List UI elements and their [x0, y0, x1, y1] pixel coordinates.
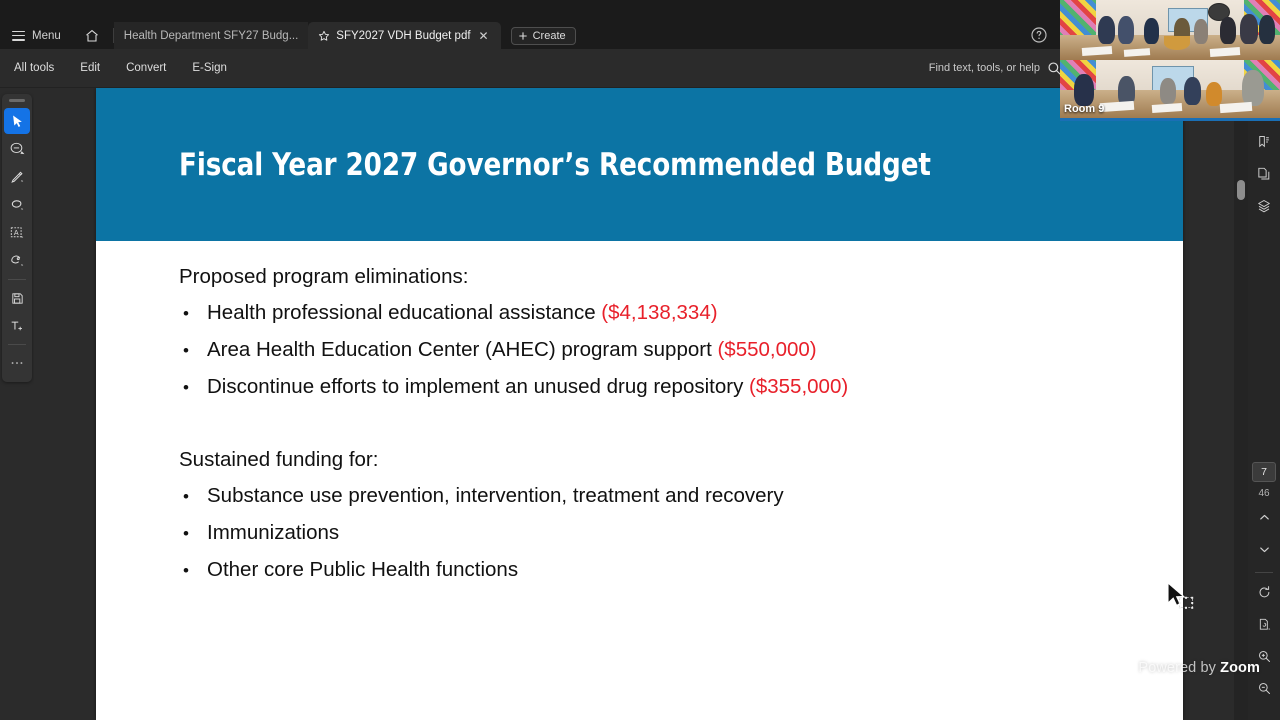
centerpiece-bowl [1164, 36, 1190, 50]
participant [1184, 77, 1201, 105]
home-button[interactable] [77, 25, 107, 47]
plus-icon [518, 31, 528, 41]
participant [1118, 16, 1134, 44]
quick-tools-panel: A [2, 94, 32, 382]
scrollbar-thumb[interactable] [1237, 180, 1245, 200]
page-navigation: 7 46 [1248, 462, 1280, 706]
participant [1220, 17, 1236, 44]
amount-value: ($550,000) [717, 338, 816, 361]
list-item: • Area Health Education Center (AHEC) pr… [179, 332, 1183, 369]
redact-tool-button[interactable] [4, 248, 30, 274]
pdf-viewport[interactable]: Fiscal Year 2027 Governor’s Recommended … [34, 88, 1248, 720]
zoom-out-icon [1257, 681, 1272, 696]
list-item: • Discontinue efforts to implement an un… [179, 369, 1183, 406]
highlighter-icon [9, 169, 25, 185]
participant [1144, 18, 1159, 44]
amount-value: ($4,138,334) [601, 301, 717, 324]
video-tile-top[interactable] [1060, 0, 1280, 60]
rotate-page-button[interactable] [1251, 578, 1277, 606]
highlight-tool-button[interactable] [4, 164, 30, 190]
zoom-in-icon [1257, 649, 1272, 664]
bullet-glyph: • [179, 370, 193, 406]
list-item-label: Area Health Education Center (AHEC) prog… [207, 338, 717, 361]
select-tool-button[interactable] [4, 108, 30, 134]
toolbar-item-all-tools[interactable]: All tools [12, 58, 56, 78]
list-item: • Other core Public Health functions [179, 552, 1183, 589]
svg-text:A: A [14, 229, 19, 237]
list-item-label: Discontinue efforts to implement an unus… [207, 375, 749, 398]
section-spacer [179, 406, 1183, 442]
list-item-label: Substance use prevention, intervention, … [207, 478, 784, 514]
close-icon[interactable]: ✕ [477, 30, 491, 42]
slide-body: Proposed program eliminations: • Health … [96, 241, 1183, 589]
video-frame: Room 9 [1060, 60, 1280, 118]
page-thumbnails-panel-button[interactable] [1251, 160, 1277, 188]
list-item-label: Immunizations [207, 515, 339, 551]
participant [1206, 82, 1222, 106]
bullet-glyph: • [179, 333, 193, 369]
menu-button[interactable]: Menu [8, 27, 69, 45]
tab-label: Health Department SFY27 Budg... [124, 30, 299, 42]
document-area: A [0, 88, 1280, 720]
bullet-glyph: • [179, 296, 193, 332]
search-placeholder: Find text, tools, or help [929, 62, 1040, 74]
participant [1242, 70, 1264, 106]
tab-sfy2027-vdh-budget[interactable]: SFY2027 VDH Budget pdf ✕ [308, 22, 500, 49]
search-input[interactable]: Find text, tools, or help [929, 61, 1062, 76]
add-text-icon [9, 318, 25, 334]
menu-button-label: Menu [32, 30, 61, 42]
tab-health-department[interactable]: Health Department SFY27 Budg... [114, 22, 309, 49]
previous-page-button[interactable] [1251, 503, 1277, 531]
rotate-icon [1257, 585, 1272, 600]
zoom-out-button[interactable] [1251, 674, 1277, 702]
tool-divider [8, 279, 26, 280]
participant [1160, 78, 1176, 104]
participant [1074, 74, 1094, 106]
section-heading-sustained: Sustained funding for: [179, 442, 1183, 478]
list-item: • Immunizations [179, 515, 1183, 552]
create-button-label: Create [533, 30, 566, 42]
hamburger-icon [12, 31, 25, 41]
tool-divider-2 [8, 344, 26, 345]
list-item-text: Health professional educational assistan… [207, 295, 718, 331]
comment-tool-button[interactable] [4, 136, 30, 162]
bullet-glyph: • [179, 479, 193, 515]
bookmarks-panel-button[interactable] [1251, 128, 1277, 156]
save-tool-button[interactable] [4, 285, 30, 311]
bullet-glyph: • [179, 553, 193, 589]
bullet-glyph: • [179, 516, 193, 552]
right-tool-rail: 7 46 [1248, 88, 1280, 720]
list-item-label: Other core Public Health functions [207, 552, 518, 588]
add-text-tool-button[interactable] [4, 313, 30, 339]
list-item: • Substance use prevention, intervention… [179, 478, 1183, 515]
video-tile-room-9[interactable]: Room 9 [1060, 60, 1280, 121]
slide-title-banner: Fiscal Year 2027 Governor’s Recommended … [96, 88, 1183, 241]
page-number-input[interactable]: 7 [1252, 462, 1276, 482]
list-item-text: Area Health Education Center (AHEC) prog… [207, 332, 817, 368]
participant [1194, 19, 1208, 44]
bookmark-icon [1256, 134, 1272, 150]
participant-name-label: Room 9 [1064, 103, 1104, 115]
chevron-down-icon [1258, 543, 1271, 556]
toolbar-item-esign[interactable]: E-Sign [190, 58, 229, 78]
comment-bubble-icon [9, 141, 25, 157]
amount-value: ($355,000) [749, 375, 848, 398]
tab-label: SFY2027 VDH Budget pdf [336, 30, 470, 42]
create-button[interactable]: Create [511, 27, 576, 45]
zoom-in-button[interactable] [1251, 642, 1277, 670]
list-item: • Health professional educational assist… [179, 295, 1183, 332]
list-item-text: Discontinue efforts to implement an unus… [207, 369, 848, 405]
toolbar-item-edit[interactable]: Edit [78, 58, 102, 78]
chevron-up-icon [1258, 511, 1271, 524]
next-page-button[interactable] [1251, 535, 1277, 563]
quick-tools-rail: A [0, 88, 34, 720]
layers-panel-button[interactable] [1251, 192, 1277, 220]
section-heading-eliminations: Proposed program eliminations: [179, 259, 1183, 295]
list-item-label: Health professional educational assistan… [207, 301, 601, 324]
help-circle-icon[interactable] [1030, 26, 1048, 44]
lasso-icon [9, 197, 25, 213]
pdf-page[interactable]: Fiscal Year 2027 Governor’s Recommended … [96, 88, 1183, 720]
text-select-tool-button[interactable]: A [4, 220, 30, 246]
page-title: Fiscal Year 2027 Governor’s Recommended … [179, 147, 931, 183]
ellipsis-icon [9, 359, 25, 367]
participant [1098, 16, 1115, 44]
vertical-scrollbar[interactable] [1234, 88, 1248, 720]
participant [1240, 14, 1258, 44]
floppy-disk-icon [10, 291, 25, 306]
home-icon [84, 28, 100, 44]
drag-handle[interactable] [9, 99, 25, 102]
layers-icon [1256, 198, 1272, 214]
toolbar-item-convert[interactable]: Convert [124, 58, 168, 78]
zoom-video-overlay[interactable]: Room 9 [1060, 0, 1280, 121]
video-frame [1060, 0, 1280, 60]
pages-icon [1256, 166, 1272, 182]
bullet-list-sustained: • Substance use prevention, intervention… [179, 478, 1183, 589]
text-box-icon: A [9, 225, 25, 241]
rail-divider [1255, 572, 1273, 573]
bullet-list-eliminations: • Health professional educational assist… [179, 295, 1183, 406]
participant [1259, 15, 1275, 44]
star-icon[interactable] [318, 30, 330, 42]
more-tools-button[interactable] [4, 350, 30, 376]
page-edit-icon [1257, 617, 1272, 632]
page-total-label: 46 [1258, 488, 1269, 499]
draw-tool-button[interactable] [4, 192, 30, 218]
page-tools-button[interactable] [1251, 610, 1277, 638]
cursor-arrow-icon [10, 114, 25, 129]
stamp-icon [9, 253, 25, 269]
